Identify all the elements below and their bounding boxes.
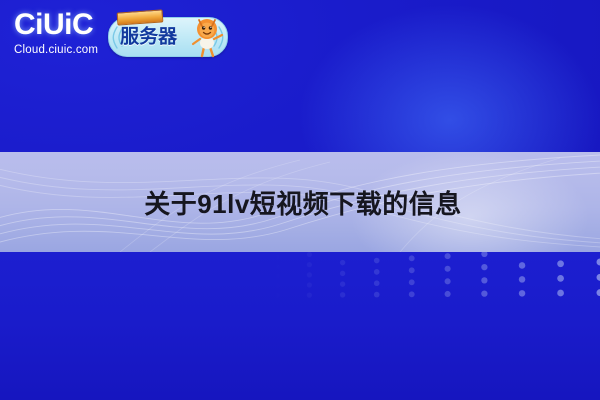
server-badge[interactable]: 服务器 — [108, 17, 228, 57]
logo-domain: Cloud.ciuic.com — [14, 45, 98, 57]
orange-cartoon-mascot-icon — [191, 14, 225, 58]
brand-header: CiUiC Cloud.ciuic.com 服务器 — [14, 8, 228, 57]
logo-wordmark: CiUiC — [14, 10, 93, 40]
logo[interactable]: CiUiC Cloud.ciuic.com — [14, 8, 98, 57]
promo-banner: 关于91lv短视频下载的信息 CiUiC Cloud.ciuic.com — [0, 0, 600, 400]
badge-label: 服务器 — [120, 28, 177, 47]
title-band: 关于91lv短视频下载的信息 — [0, 152, 600, 252]
page-title: 关于91lv短视频下载的信息 — [0, 152, 600, 252]
bottom-fill — [0, 252, 600, 400]
